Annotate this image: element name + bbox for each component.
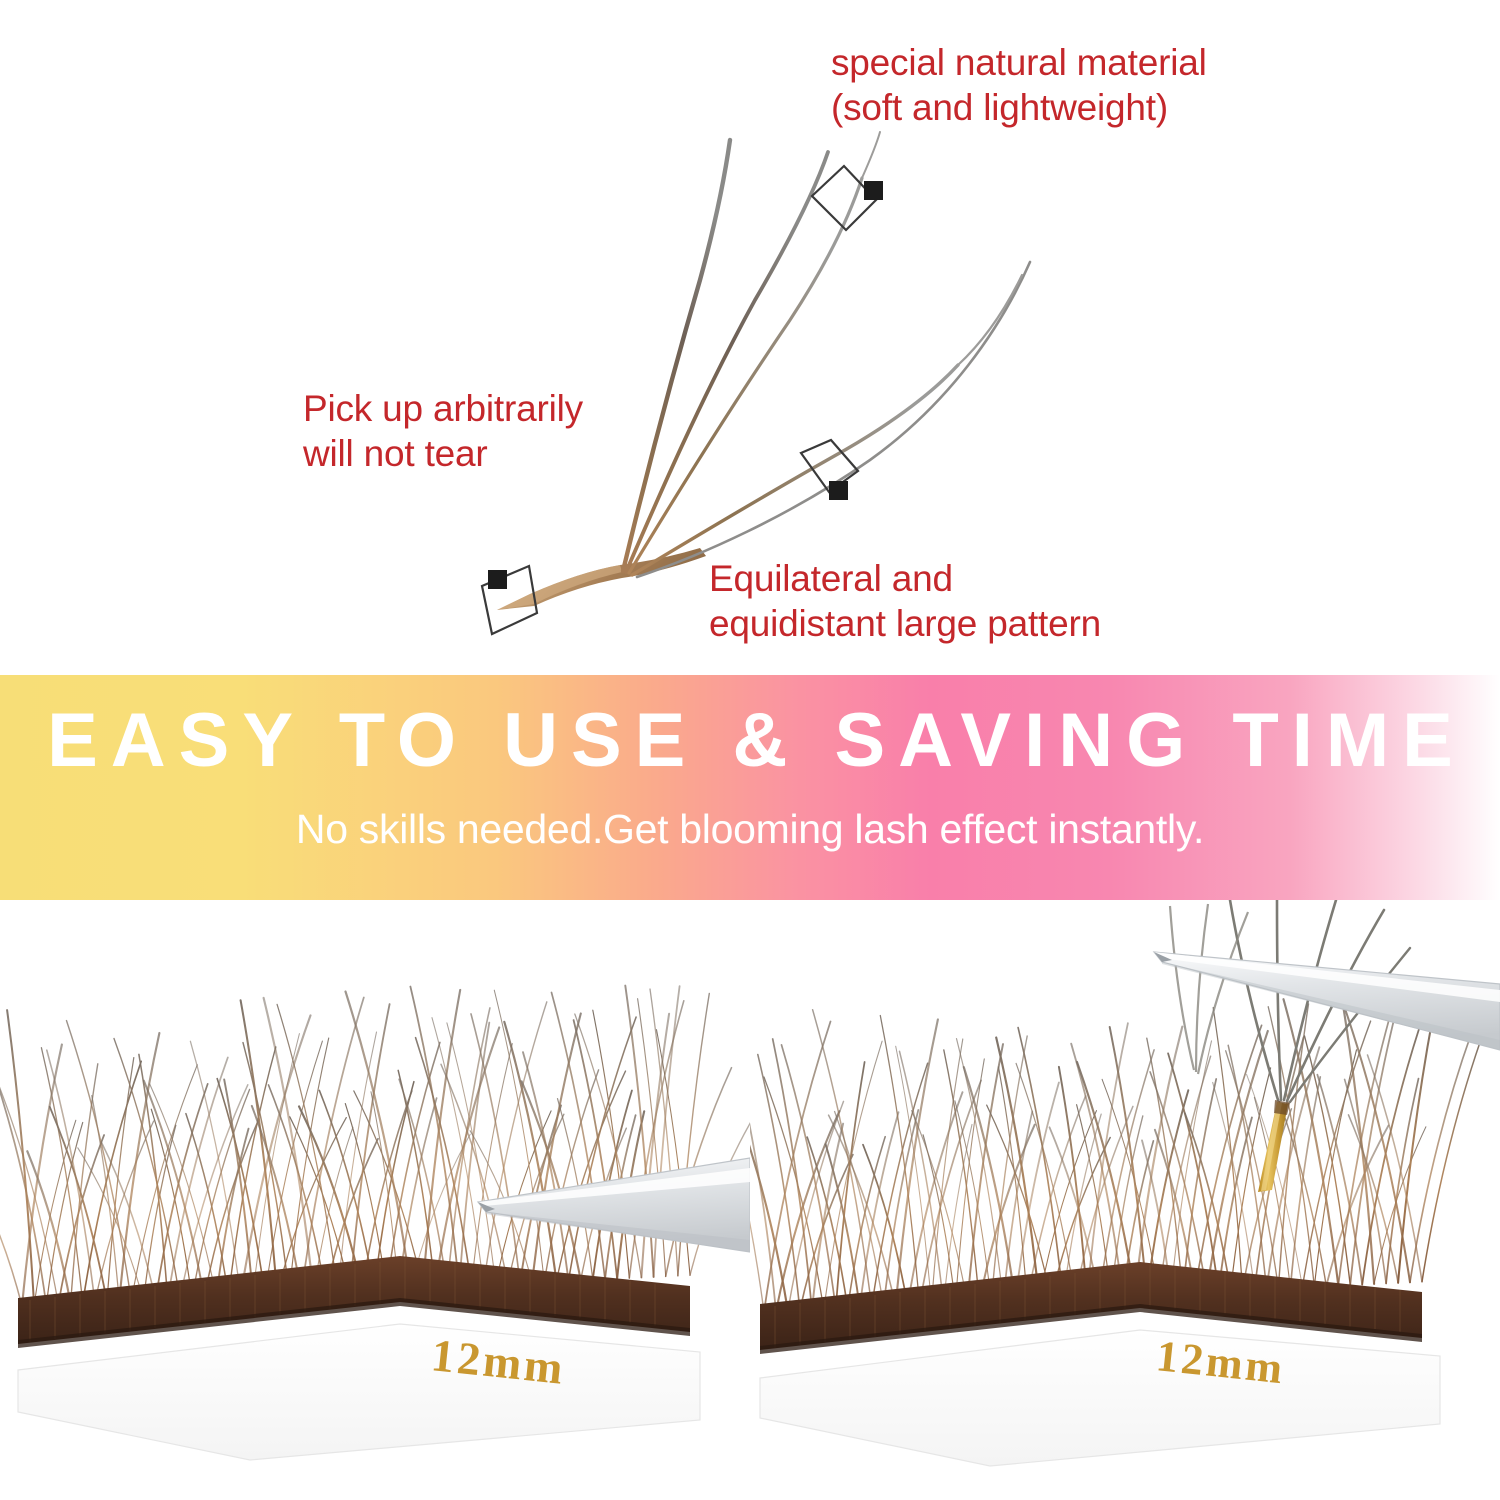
photo-lash-tray-with-tweezer: 12mm: [0, 900, 750, 1500]
photo-lash-tray-with-detached-fan: 12mm: [750, 900, 1500, 1500]
product-photo-row: 12mm: [0, 900, 1500, 1500]
lash-fan-diagram-section: special natural material (soft and light…: [0, 0, 1500, 675]
fan-base-strip: [497, 548, 706, 610]
lash-fibers-left: [0, 986, 750, 1306]
product-marketing-page: special natural material (soft and light…: [0, 0, 1500, 1500]
callout-special-natural-material: special natural material (soft and light…: [831, 40, 1207, 130]
lash-card-left: [18, 1324, 700, 1460]
banner-subheadline: No skills needed.Get blooming lash effec…: [0, 809, 1500, 850]
callout-pick-up-arbitrarily: Pick up arbitrarily will not tear: [303, 386, 583, 476]
fan-fibers: [623, 132, 1030, 577]
callout-marker-upper: [812, 166, 883, 230]
banner-headline: EASY TO USE & SAVING TIME: [0, 703, 1500, 779]
headline-banner: EASY TO USE & SAVING TIME No skills need…: [0, 675, 1500, 900]
detached-lash-fan: [1230, 900, 1410, 1192]
callout-equilateral-equidistant: Equilateral and equidistant large patter…: [709, 556, 1101, 646]
lash-card-right: [760, 1330, 1440, 1466]
